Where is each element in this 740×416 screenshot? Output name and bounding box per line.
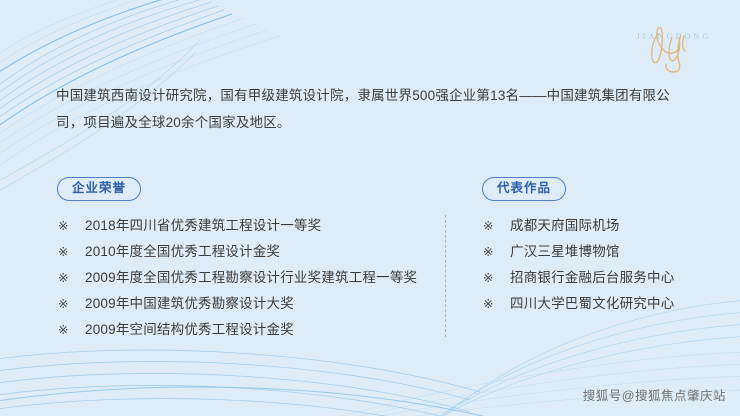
- badge-corporate-honors: 企业荣誉: [57, 177, 141, 201]
- list-item-label: 成都天府国际机场: [510, 214, 713, 234]
- list-item-label: 四川大学巴蜀文化研究中心: [510, 292, 713, 312]
- list-marker-icon: ※: [58, 296, 85, 311]
- list-marker-icon: ※: [58, 218, 85, 233]
- list-item: ※ 广汉三星堆博物馆: [483, 240, 713, 266]
- list-item-label: 2009年空间结构优秀工程设计金奖: [85, 318, 428, 338]
- list-item: ※ 2010年度全国优秀工程设计金奖: [58, 240, 428, 266]
- badge-representative-works: 代表作品: [482, 177, 566, 201]
- list-marker-icon: ※: [58, 322, 85, 337]
- corporate-honors-list: ※ 2018年四川省优秀建筑工程设计一等奖 ※ 2010年度全国优秀工程设计金奖…: [58, 214, 428, 344]
- list-item: ※ 成都天府国际机场: [483, 214, 713, 240]
- representative-works-list: ※ 成都天府国际机场 ※ 广汉三星堆博物馆 ※ 招商银行金融后台服务中心 ※ 四…: [483, 214, 713, 318]
- list-item-label: 招商银行金融后台服务中心: [510, 266, 713, 286]
- list-item: ※ 2009年度全国优秀工程勘察设计行业奖建筑工程一等奖: [58, 266, 428, 292]
- slide-canvas: JIANGDONG 中国建筑西南设计研究院，国有甲级建筑设计院，隶属世界500强…: [0, 0, 740, 416]
- list-marker-icon: ※: [58, 244, 85, 259]
- list-item: ※ 2009年空间结构优秀工程设计金奖: [58, 318, 428, 344]
- brand-logo: JIANGDONG: [622, 18, 726, 74]
- list-item-label: 广汉三星堆博物馆: [510, 240, 713, 260]
- list-item: ※ 2018年四川省优秀建筑工程设计一等奖: [58, 214, 428, 240]
- list-item-label: 2010年度全国优秀工程设计金奖: [85, 240, 428, 260]
- intro-paragraph: 中国建筑西南设计研究院，国有甲级建筑设计院，隶属世界500强企业第13名——中国…: [56, 82, 696, 136]
- list-marker-icon: ※: [483, 244, 510, 259]
- list-item: ※ 招商银行金融后台服务中心: [483, 266, 713, 292]
- list-item: ※ 四川大学巴蜀文化研究中心: [483, 292, 713, 318]
- list-marker-icon: ※: [483, 270, 510, 285]
- column-divider: [445, 215, 446, 337]
- list-item-label: 2018年四川省优秀建筑工程设计一等奖: [85, 214, 428, 234]
- list-marker-icon: ※: [483, 218, 510, 233]
- list-item: ※ 2009年中国建筑优秀勘察设计大奖: [58, 292, 428, 318]
- brand-script-signature-icon: [622, 18, 726, 74]
- source-watermark: 搜狐号@搜狐焦点肇庆站: [583, 385, 726, 404]
- list-item-label: 2009年中国建筑优秀勘察设计大奖: [85, 292, 428, 312]
- list-marker-icon: ※: [483, 296, 510, 311]
- list-marker-icon: ※: [58, 270, 85, 285]
- list-item-label: 2009年度全国优秀工程勘察设计行业奖建筑工程一等奖: [85, 266, 428, 286]
